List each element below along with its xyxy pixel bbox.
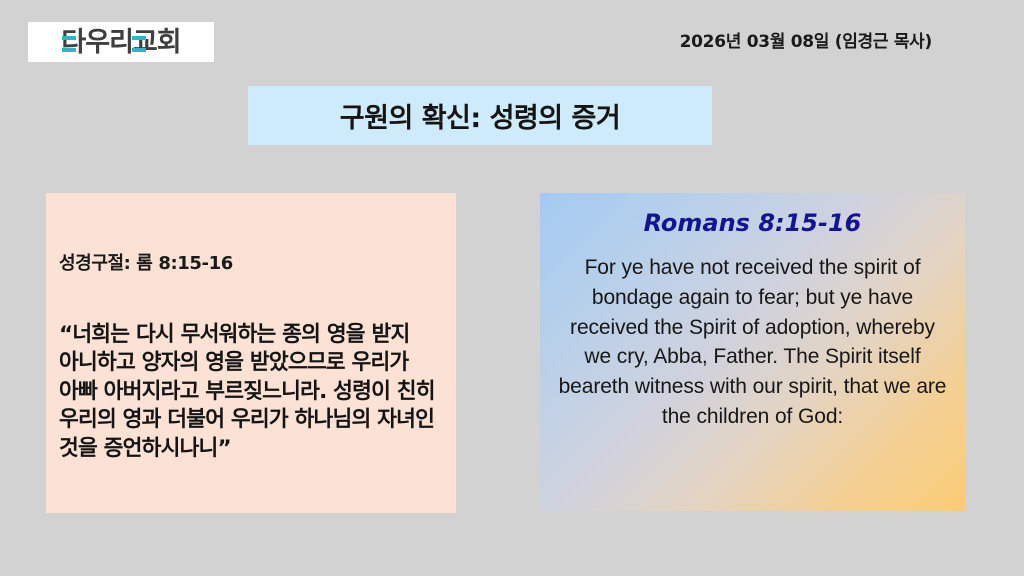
english-scripture-text: For ye have not received the spirit of b… <box>558 253 947 432</box>
english-scripture-reference: Romans 8:15-16 <box>558 209 947 237</box>
sermon-date-and-preacher: 2026년 03월 08일 (임경근 목사) <box>680 27 932 52</box>
presentation-slide: 다우리교회 2026년 03월 08일 (임경근 목사) 구원의 확신: 성령의… <box>0 0 1024 576</box>
church-logo-wordmark: 다우리교회 <box>61 29 180 56</box>
logo-accent-stroke <box>132 36 146 40</box>
korean-scripture-text: “너희는 다시 무서워하는 종의 영을 받지 아니하고 양자의 영을 받았으므로… <box>59 321 443 463</box>
korean-scripture-reference: 성경구절: 롬 8:15-16 <box>59 249 443 275</box>
slide-title-banner: 구원의 확신: 성령의 증거 <box>248 86 712 145</box>
korean-scripture-card: 성경구절: 롬 8:15-16 “너희는 다시 무서워하는 종의 영을 받지 아… <box>46 193 456 513</box>
logo-accent-stroke <box>62 36 76 40</box>
logo-accent-stroke <box>132 48 146 52</box>
church-logo: 다우리교회 <box>28 22 214 62</box>
english-scripture-card: Romans 8:15-16 For ye have not received … <box>540 193 965 511</box>
logo-accent-stroke <box>62 48 76 52</box>
page-title: 구원의 확신: 성령의 증거 <box>340 96 620 135</box>
